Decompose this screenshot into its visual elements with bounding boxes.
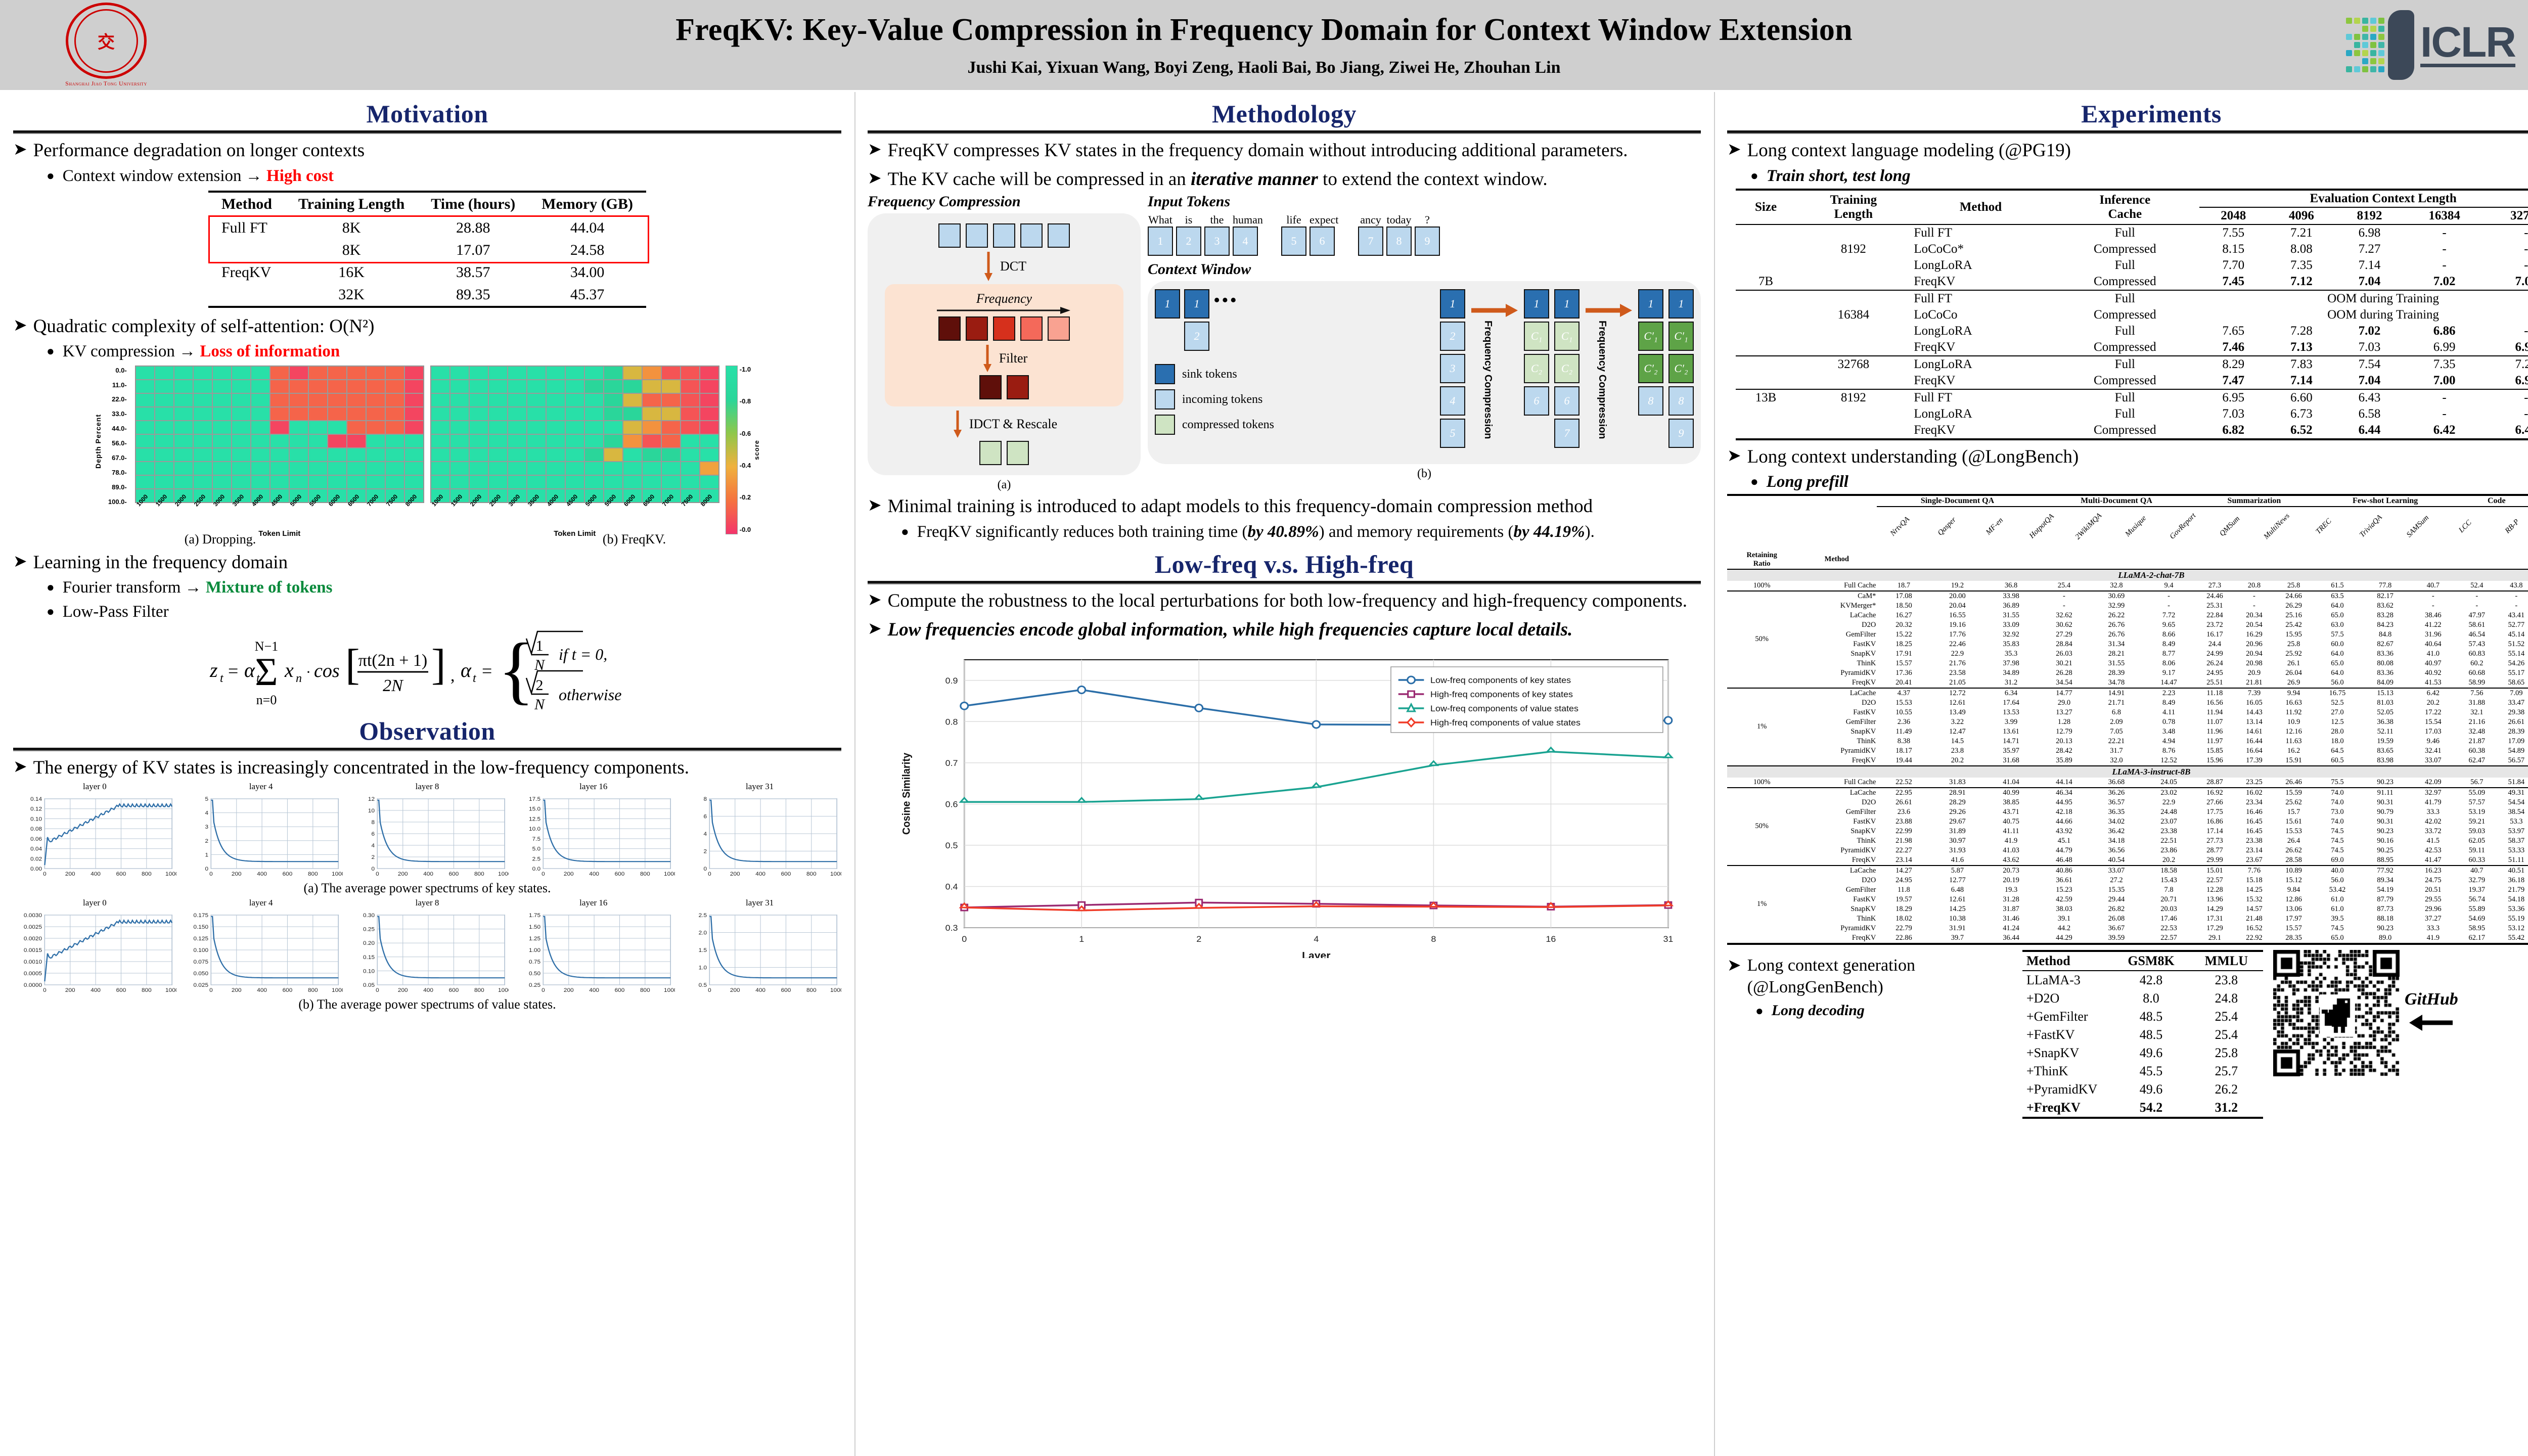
spectrum-title: layer 16 (512, 898, 675, 908)
heatmap-cell (508, 475, 527, 489)
heatmap-cell (136, 407, 155, 421)
spectrum-title: layer 16 (512, 782, 675, 792)
cell-value: 60.68 (2457, 668, 2497, 678)
cell-value: 22.21 (2090, 737, 2143, 746)
svg-text:0.050: 0.050 (193, 971, 208, 977)
legend-label: incoming tokens (1182, 393, 1262, 406)
table-row: D2O15.5312.6117.6429.021.718.4916.5616.0… (1727, 698, 2528, 708)
cell-value: 26.24 (2195, 659, 2234, 668)
heatmap-cell (232, 393, 251, 407)
heatmap-cell (527, 434, 546, 448)
cosine-similarity-chart: 0.30.40.50.60.70.80.9012481631Cosine Sim… (884, 645, 1684, 958)
cell-value: 44.66 (2038, 817, 2091, 827)
heatmap-cell (136, 421, 155, 434)
pg19-table: SizeTrainingLengthMethodInferenceCacheEv… (1736, 189, 2528, 440)
cell-value: 10.55 (1877, 708, 1930, 717)
heatmap-cell (289, 462, 308, 475)
heatmap-cell (488, 462, 508, 475)
cell-value: 28.42 (2038, 746, 2091, 756)
cell-value: 88.95 (2361, 855, 2409, 866)
th: InferenceCache (2051, 190, 2199, 224)
svg-text:0.075: 0.075 (193, 960, 208, 966)
lowhigh-bullet-1: ➤ Compute the robustness to the local pe… (868, 589, 1701, 613)
cell-value: 29.38 (2497, 708, 2528, 717)
table-row: +SnapKV49.625.8 (2022, 1044, 2263, 1062)
cell-value: 42.59 (2038, 895, 2091, 904)
cell-value: 18.29 (1877, 904, 1930, 914)
cell-value: 18.0 (2314, 737, 2362, 746)
svg-text:0.12: 0.12 (30, 806, 42, 812)
incoming-token: 3 (1440, 354, 1465, 383)
compressed-token: C′₂ (1668, 354, 1694, 383)
cell-value: 17.09 (2497, 737, 2528, 746)
cell-value: 10.9 (2274, 717, 2313, 727)
iclr-dot (2354, 18, 2360, 24)
heatmap-cell (681, 366, 700, 380)
cell-value: 14.91 (2090, 688, 2143, 698)
cell-value: 25.8 (2274, 581, 2313, 591)
cell-value: - (2485, 406, 2528, 422)
cell-value: 43.41 (2497, 611, 2528, 620)
heatmap-cell (366, 448, 385, 462)
arrow-bullet-icon: ➤ (868, 495, 882, 517)
heatmap-cell (450, 380, 469, 393)
svg-text:1000: 1000 (830, 988, 841, 994)
heatmap-cell (469, 380, 488, 393)
th: Size (1736, 190, 1796, 224)
spectrum-title: layer 31 (678, 782, 841, 792)
cell-value: 41.03 (1984, 846, 2038, 855)
svg-text:2N: 2N (383, 676, 404, 695)
svg-text:400: 400 (590, 988, 600, 994)
table-row: FreqKVCompressed7.467.137.036.996.98 (1736, 339, 2528, 356)
cell-value: 37.98 (1984, 659, 2038, 668)
cell-value: 8.29 (2199, 356, 2268, 373)
heatmap-cell (232, 407, 251, 421)
cell-value: 16.75 (2314, 688, 2362, 698)
cell-value: 20.98 (2234, 659, 2274, 668)
heatmap-cell (584, 434, 604, 448)
idct-arrow-group: IDCT & Rescale (951, 409, 1057, 439)
colorbar-tick: -0.2 (740, 493, 751, 501)
legend-entry: Low-freq components of key states (1430, 675, 1571, 685)
svg-text:0.05: 0.05 (363, 983, 375, 989)
cell-method: FreqKV (1911, 373, 2050, 389)
input-token-id: 4 (1233, 226, 1258, 256)
cell-value: 22.95 (1877, 788, 1930, 798)
svg-text:15.0: 15.0 (529, 806, 540, 812)
cell-size (1736, 356, 1796, 373)
svg-text:6: 6 (371, 832, 375, 838)
spectrum-panel: layer 802468101202004006008001000 (346, 782, 509, 878)
cell-value: 56.74 (2457, 895, 2497, 904)
cell-value: 14.77 (2038, 688, 2091, 698)
heatmap-cell (450, 462, 469, 475)
frequency-compression-arrow-icon (1585, 289, 1633, 456)
heatmap-cell (404, 475, 424, 489)
table-row: 1%LaCache14.275.8720.7340.8633.0718.5815… (1727, 866, 2528, 876)
heatmap-cell (508, 448, 527, 462)
cell-value: 12.72 (1930, 688, 1984, 698)
methodology-bullet-1: ➤ FreqKV compresses KV states in the fre… (868, 139, 1701, 163)
heatmap-cell (155, 421, 174, 434)
spectrum-title: layer 8 (346, 898, 509, 908)
svg-text:z: z (209, 659, 218, 681)
table-row: LongLoRAFull7.036.736.58-- (1736, 406, 2528, 422)
cell-value: 30.69 (2090, 591, 2143, 601)
cell-value: 29.67 (1930, 817, 1984, 827)
dct-arrow-group: DCT (982, 251, 1026, 282)
github-qr-code[interactable] (2273, 950, 2400, 1076)
col-header: NrtvQA (1880, 507, 1920, 547)
svg-text:0.0030: 0.0030 (24, 913, 42, 919)
cell-value: 44.2 (2038, 924, 2091, 933)
input-tokens-title: Input Tokens (1148, 193, 1701, 210)
cell-value: 31.93 (1930, 846, 1984, 855)
incoming-token: 2 (1440, 322, 1465, 351)
cell-value: 51.11 (2497, 855, 2528, 866)
heatmap-cell (469, 475, 488, 489)
heatmap-cell (328, 407, 347, 421)
compressed-token: C′₂ (1638, 354, 1663, 383)
frequency-axis-arrow-icon (936, 306, 1072, 314)
cell-value: 24.75 (2409, 876, 2457, 885)
cell-value: 14.25 (2234, 885, 2274, 895)
heatmap-cell (136, 380, 155, 393)
spectrum-svg: 0.250.500.751.001.251.501.75020040060080… (512, 909, 675, 994)
svg-text:800: 800 (806, 872, 817, 878)
cell-value: 46.54 (2457, 630, 2497, 640)
compression-arrow-2: Frequency Compression (1585, 289, 1633, 456)
cell-value: 41.11 (1984, 827, 2038, 836)
sink-token: 1 (1638, 289, 1663, 318)
cell-trainlen: 8192 (1796, 389, 1911, 406)
cell: 25.8 (2190, 1044, 2263, 1062)
motivation-bullet-3-sub2: ● Low-Pass Filter (47, 602, 841, 622)
heatmap-cell (431, 462, 450, 475)
cell-value: 90.23 (2361, 924, 2409, 933)
heatmap-cell (623, 393, 642, 407)
heatmap-b-grid (430, 366, 719, 503)
iclr-dot (2378, 50, 2384, 56)
experiments-bullet-2-sub: ● Long prefill (1750, 472, 2528, 492)
arrow-bullet-icon: ➤ (868, 168, 882, 190)
cell-value: 57.43 (2457, 640, 2497, 649)
cell-value: 56.0 (2314, 678, 2362, 688)
heatmap-cell (584, 393, 604, 407)
cell-value: 41.47 (2409, 855, 2457, 866)
cell-value: - (2485, 323, 2528, 339)
cell: 48.5 (2112, 1008, 2189, 1026)
cell-value: 64.5 (2314, 746, 2362, 756)
cell-value: 15.54 (2409, 717, 2457, 727)
cell: +GemFilter (2022, 1008, 2112, 1026)
cell-size (1736, 224, 1796, 241)
cell-value: 40.7 (2457, 866, 2497, 876)
cell-value: 31.55 (2090, 659, 2143, 668)
svg-text:2.5: 2.5 (532, 856, 540, 862)
cell-value: 41.04 (1984, 778, 2038, 788)
cell-value: 35.3 (1984, 649, 2038, 659)
cell-trainlen (1796, 339, 1911, 356)
cell-value: 31.28 (1984, 895, 2038, 904)
cell-value: 22.99 (1877, 827, 1930, 836)
cell-value: 21.98 (1877, 836, 1930, 846)
cell-value: 25.42 (2274, 620, 2313, 630)
cell-value: 83.36 (2361, 668, 2409, 678)
heatmap-cell (623, 407, 642, 421)
cell-ratio: 1% (1727, 866, 1796, 944)
input-token-id: 1 (1148, 226, 1173, 256)
heatmap-cell (404, 421, 424, 434)
cell-value: 17.76 (1930, 630, 1984, 640)
frequency-compression-label: Frequency Compression (1597, 321, 1607, 439)
lowhigh-bullet-1-text: Compute the robustness to the local pert… (888, 589, 1687, 613)
methodology-bullet-2-text: The KV cache will be compressed in an it… (888, 168, 1548, 192)
svg-text:1000: 1000 (498, 988, 509, 994)
cell-value: 23.6 (1877, 807, 1930, 817)
spectrum-svg: 02468101202004006008001000 (346, 793, 509, 878)
mixture-highlight: Mixture of tokens (206, 578, 333, 597)
cell: 26.2 (2190, 1080, 2263, 1099)
section-title-observation: Observation (13, 716, 841, 746)
heatmap-cell (251, 434, 270, 448)
heatmap-cell (584, 475, 604, 489)
table-row: 100%Full Cache18.719.236.825.432.89.427.… (1727, 581, 2528, 591)
cell-ratio: 50% (1727, 788, 1796, 866)
cell-value: 60.38 (2457, 746, 2497, 756)
svg-text:7.5: 7.5 (532, 837, 540, 843)
svg-text:otherwise: otherwise (559, 686, 621, 704)
cell-value: 22.46 (1930, 640, 1984, 649)
heatmap-cell (308, 434, 328, 448)
svg-text:2.0: 2.0 (699, 930, 707, 936)
heatmap-cell (527, 475, 546, 489)
svg-text:1.50: 1.50 (529, 925, 540, 931)
cell-value: 20.34 (2234, 611, 2274, 620)
heatmap-cell (584, 462, 604, 475)
svg-text:0.0: 0.0 (532, 867, 540, 873)
cell-value: 28.87 (2195, 778, 2234, 788)
cell-method: CaM* (1796, 591, 1877, 601)
cell-value: 13.27 (2038, 708, 2091, 717)
cell-value: 40.75 (1984, 817, 2038, 827)
heatmap-cell (527, 366, 546, 380)
cell-ratio: 100% (1727, 778, 1796, 788)
cell-size (1736, 323, 1796, 339)
cell-value: 18.25 (1877, 640, 1930, 649)
input-token-word: life (1281, 213, 1306, 226)
cell-value: 55.17 (2497, 668, 2528, 678)
cell-value: 51.84 (2497, 778, 2528, 788)
spectrum-panel: layer 310.51.01.52.02.502004006008001000 (678, 898, 841, 994)
heatmap-cell (308, 393, 328, 407)
diagram-caption-b: (b) (1148, 467, 1701, 481)
table-row: +ThinK45.525.7 (2022, 1062, 2263, 1080)
cell-value: 20.54 (2234, 620, 2274, 630)
cell-value: 17.22 (2409, 708, 2457, 717)
heatmap-cell (251, 366, 270, 380)
heatmap-cell (450, 393, 469, 407)
cell-value: 9.17 (2143, 668, 2195, 678)
table-row: 7BFreqKVCompressed7.457.127.047.027.02 (1736, 274, 2528, 290)
cell-value: - (2404, 389, 2486, 406)
cell-value: 11.8 (1877, 885, 1930, 895)
spectrum-title: layer 0 (13, 782, 176, 792)
cell-value: 59.11 (2457, 846, 2497, 855)
cell-value: 20.13 (2038, 737, 2091, 746)
cell-value: 40.54 (2090, 855, 2143, 866)
heatmap-cell (623, 366, 642, 380)
cell-value: 22.84 (2195, 611, 2234, 620)
svg-text:0: 0 (43, 988, 47, 994)
sink-col: 1 2 (1184, 289, 1209, 351)
cell-value: 75.5 (2314, 778, 2362, 788)
cell-value: 60.2 (2457, 659, 2497, 668)
cell-value: 83.98 (2361, 756, 2409, 766)
cell-value: 23.88 (1877, 817, 1930, 827)
iclr-dot (2362, 58, 2368, 64)
cell-value: 7.00 (2404, 373, 2486, 389)
cell-value: 22.57 (2143, 933, 2195, 944)
cell-value: 19.44 (1877, 756, 1930, 766)
iclr-dot (2378, 18, 2384, 24)
cell-value: 20.9 (2234, 668, 2274, 678)
compressed-square (979, 441, 1002, 465)
cell-method: LoCoCo (1911, 307, 2050, 323)
context-window-title: Context Window (1148, 261, 1701, 278)
cell-ratio: 50% (1727, 591, 1796, 688)
svg-text:200: 200 (232, 988, 242, 994)
cell-ratio: 100% (1727, 581, 1796, 591)
cell-size (1736, 290, 1796, 307)
cell-method: Full Cache (1796, 581, 1877, 591)
cell-size (1736, 422, 1796, 439)
table-row: +D2O8.024.8 (2022, 989, 2263, 1008)
cell-cache: Compressed (2051, 274, 2199, 290)
cell-value: 44.14 (2038, 778, 2091, 788)
input-token: life5 (1281, 213, 1306, 256)
heatmap-cell (623, 421, 642, 434)
freq-square (1048, 316, 1070, 341)
group-header: Code (2457, 495, 2528, 507)
cell-value: 11.18 (2195, 688, 2234, 698)
dot-bullet-icon: ● (47, 602, 55, 621)
cell-value: 62.05 (2457, 836, 2497, 846)
cell-value: 8.77 (2143, 649, 2195, 659)
cell-value: 21.76 (1930, 659, 1984, 668)
cell-value: 3.99 (1984, 717, 2038, 727)
iclr-dot (2346, 50, 2352, 56)
cell-value: - (2038, 591, 2091, 601)
heatmap-cell (642, 407, 661, 421)
colorbar-gradient (726, 366, 738, 534)
heatmap-cell (289, 366, 308, 380)
table-row: LLaMA-342.823.8 (2022, 971, 2263, 989)
column-motivation: Motivation ➤ Performance degradation on … (0, 92, 854, 1456)
cell-value: 12.28 (2195, 885, 2234, 895)
cell-value: 80.08 (2361, 659, 2409, 668)
cell-value: 53.42 (2314, 885, 2362, 895)
cell-trainlen (1796, 323, 1911, 339)
author-list: Jushi Kai, Yixuan Wang, Boyi Zeng, Haoli… (182, 58, 2346, 77)
cell-value: 32.92 (1984, 630, 2038, 640)
svg-text:200: 200 (398, 988, 408, 994)
table-row: SnapKV17.9122.935.326.0328.218.7724.9920… (1727, 649, 2528, 659)
svg-text:1000: 1000 (498, 872, 509, 878)
heatmap-cell (546, 366, 565, 380)
legend-swatch (1155, 389, 1175, 409)
cell-value: 11.63 (2274, 737, 2313, 746)
spectrum-svg: 0246802004006008001000 (678, 793, 841, 878)
th: TrainingLength (1796, 190, 1911, 224)
compression-arrow-1: Frequency Compression (1470, 289, 1519, 456)
cell-value: 20.73 (1984, 866, 2038, 876)
cell-value: - (2404, 224, 2486, 241)
cell-value: 23.07 (2143, 817, 2195, 827)
cell-value: 58.65 (2497, 678, 2528, 688)
spectrum-panel: layer 401234502004006008001000 (179, 782, 343, 878)
svg-text:0.02: 0.02 (30, 856, 42, 862)
svg-text:0: 0 (704, 867, 707, 873)
model-banner: LLaMA-3-instruct-8B (1727, 766, 2528, 778)
svg-text:t: t (473, 672, 477, 685)
longgen-text: ➤ Long context generation(@LongGenBench)… (1727, 950, 2010, 1022)
svg-text:0.7: 0.7 (945, 758, 958, 768)
cost-table-header: Memory (GB) (528, 192, 646, 216)
heatmap-cell (385, 475, 404, 489)
table-row: KVMerger*18.5020.0436.89-32.99-25.31-26.… (1727, 601, 2528, 611)
heatmap-cell (308, 380, 328, 393)
cell-value: 26.46 (2274, 778, 2313, 788)
spectrum-svg: 01234502004006008001000 (179, 793, 343, 878)
model-banner: LLaMA-2-chat-7B (1727, 569, 2528, 581)
cell-value: 64.0 (2314, 668, 2362, 678)
heatmap-cell (642, 366, 661, 380)
cell-value: 52.11 (2361, 727, 2409, 737)
svg-text:2: 2 (371, 855, 375, 861)
svg-text:0: 0 (209, 988, 213, 994)
heatmap-cell (212, 380, 232, 393)
cell-value: 16.45 (2234, 817, 2274, 827)
incoming-token: 6 (1554, 386, 1579, 416)
heatmap-cell (469, 366, 488, 380)
table-row: GemFilter11.86.4819.315.2315.357.812.281… (1727, 885, 2528, 895)
arrow-bullet-icon: ➤ (1727, 955, 1741, 977)
iclr-dot (2378, 42, 2384, 48)
freq-square (993, 316, 1015, 341)
legend-list: sink tokensincoming tokenscompressed tok… (1155, 364, 1274, 435)
compressed-token: C₁ (1554, 322, 1579, 351)
heatmap-cell (136, 366, 155, 380)
svg-text:200: 200 (730, 872, 740, 878)
svg-text:10: 10 (368, 808, 374, 814)
table-row: +FastKV48.525.4 (2022, 1026, 2263, 1044)
cell-value: 41.5 (2409, 836, 2457, 846)
frequency-compression-panel: Frequency Compression DCT (868, 193, 1141, 492)
cell-method: Full FT (1911, 389, 2050, 406)
cell-value: 32.97 (2409, 788, 2457, 798)
heatmap-cell (488, 380, 508, 393)
heatmap-cell (431, 434, 450, 448)
cell-value: 60.83 (2457, 649, 2497, 659)
group-header: Few-shot Learning (2314, 495, 2457, 507)
cell-value: 7.65 (2199, 323, 2268, 339)
cell-value: 26.08 (2090, 914, 2143, 924)
cell-method: PyramidKV (1796, 846, 1877, 855)
cell-cache: Full (2051, 356, 2199, 373)
cell-value: 32.8 (2090, 581, 2143, 591)
